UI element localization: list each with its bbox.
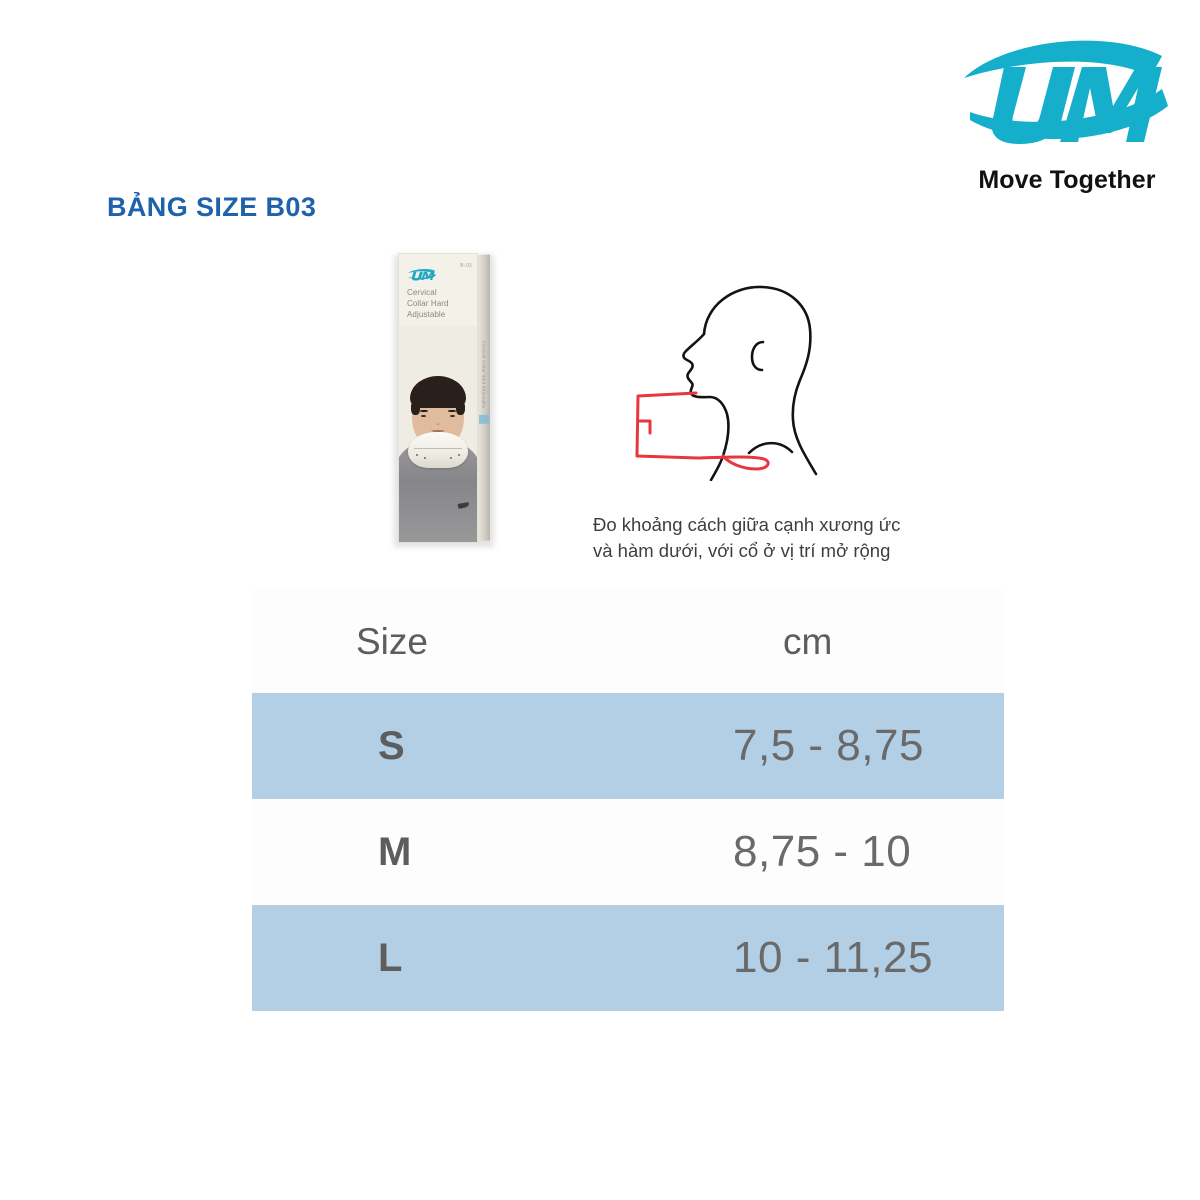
cell-size-s: S — [252, 693, 643, 799]
model-nose — [436, 418, 441, 425]
product-name-line-3: Adjustable — [407, 309, 449, 320]
caption-line-1: Đo khoảng cách giữa cạnh xương ức — [593, 512, 973, 538]
model-eye-left — [421, 415, 426, 417]
diagram-caption: Đo khoảng cách giữa cạnh xương ức và hàm… — [593, 512, 973, 564]
brand-logo-block: Move Together — [956, 32, 1178, 197]
table-header-row: Size cm — [252, 590, 1004, 693]
product-box-image: Cervical Collar Hard Adjustable B-03 Cer… — [392, 251, 496, 547]
brand-tagline: Move Together — [956, 168, 1178, 193]
product-box-spine: Cervical Collar Hard Adjustable — [478, 255, 490, 541]
model-brow-left — [420, 410, 428, 412]
product-model-photo — [399, 326, 477, 543]
page-title: BẢNG SIZE B03 — [107, 192, 316, 223]
collar-rivet — [416, 454, 418, 456]
cell-cm-s: 7,5 - 8,75 — [643, 693, 1004, 799]
shirt-logo-icon — [458, 502, 470, 509]
model-hair — [410, 376, 466, 408]
product-name-line-1: Cervical — [407, 287, 449, 298]
product-name: Cervical Collar Hard Adjustable — [407, 287, 449, 320]
cell-cm-m: 8,75 - 10 — [643, 799, 1004, 905]
column-header-size: Size — [252, 590, 643, 693]
spine-text: Cervical Collar Hard Adjustable — [482, 300, 487, 450]
size-chart-table: Size cm S 7,5 - 8,75 M 8,75 - 10 L 10 - … — [252, 590, 1004, 1011]
product-box-front: B-03 Cervical Collar Hard Adjustable — [398, 253, 478, 543]
cell-size-l: L — [252, 905, 643, 1011]
product-box-um-logo-icon — [407, 268, 437, 281]
head-neck-profile-diagram — [628, 266, 858, 481]
product-name-line-2: Collar Hard — [407, 298, 449, 309]
model-brow-right — [448, 410, 456, 412]
product-code: B-03 — [460, 263, 472, 269]
collar-rivet — [450, 457, 452, 459]
column-header-cm: cm — [643, 590, 1004, 693]
table-row: S 7,5 - 8,75 — [252, 693, 1004, 799]
model-eye-right — [450, 415, 455, 417]
caption-line-2: và hàm dưới, với cổ ở vị trí mở rộng — [593, 538, 973, 564]
um-logo-icon — [956, 32, 1178, 152]
cervical-collar — [408, 432, 468, 468]
cell-size-m: M — [252, 799, 643, 905]
table-row: M 8,75 - 10 — [252, 799, 1004, 905]
collar-rivet — [424, 457, 426, 459]
collar-rivet — [458, 454, 460, 456]
table-row: L 10 - 11,25 — [252, 905, 1004, 1011]
cell-cm-l: 10 - 11,25 — [643, 905, 1004, 1011]
